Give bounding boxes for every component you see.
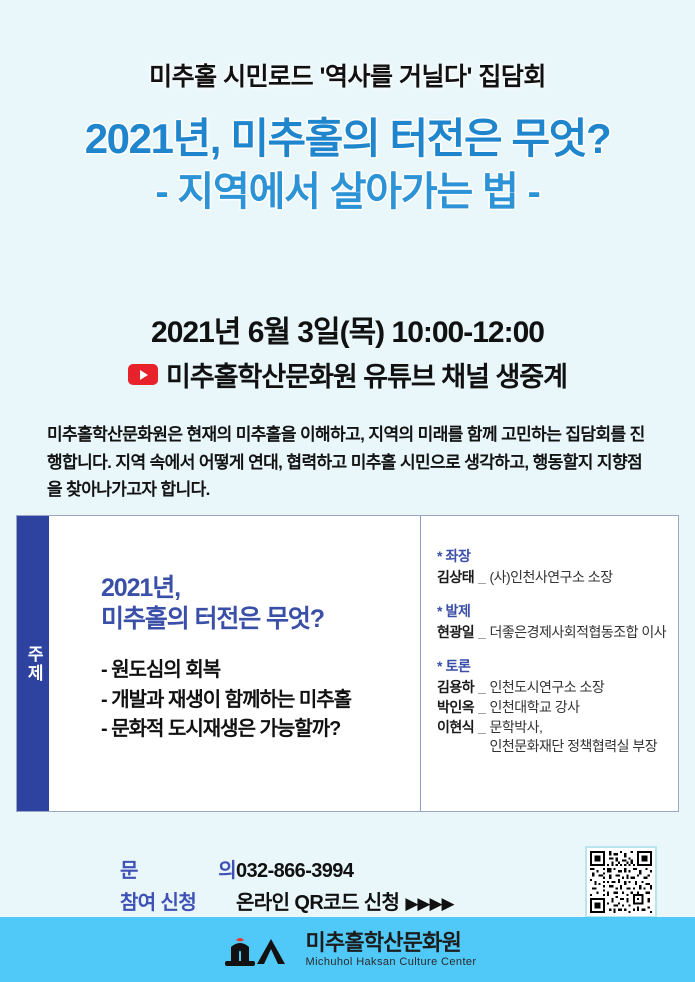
contact-block: 문 의 032-866-3994 참여 신청 온라인 QR코드 신청 ▶▶▶▶ bbox=[120, 855, 454, 919]
qr-code[interactable] bbox=[585, 846, 657, 918]
list-item: - 개발과 재생이 함께하는 미추홀 bbox=[101, 686, 420, 716]
speaker-affiliation: (사)인천사연구소 소장 bbox=[489, 568, 612, 588]
list-item: - 문화적 도시재생은 가능할까? bbox=[101, 715, 420, 745]
poster-root: 미추홀 시민로드 '역사를 거닐다' 집담회 2021년, 미추홀의 터전은 무… bbox=[0, 0, 695, 982]
speaker-role-label: * 토론 bbox=[437, 656, 678, 676]
page-subtitle: - 지역에서 살아가는 법 - bbox=[0, 169, 695, 216]
inquiry-phone-number: 032-866-3994 bbox=[236, 855, 353, 887]
page-title: 2021년, 미추홀의 터전은 무엇? bbox=[0, 114, 695, 164]
apply-arrows-icon: ▶▶▶▶ bbox=[399, 890, 453, 917]
speaker-affiliation-line2: 인천문화재단 정책협력실 부장 bbox=[489, 737, 657, 757]
speaker-role-label: * 발제 bbox=[437, 601, 678, 621]
footer-logo-en: Michuhol Haksan Culture Center bbox=[306, 957, 477, 968]
apply-value: 온라인 QR코드 신청 bbox=[236, 887, 399, 919]
apply-label: 참여 신청 bbox=[120, 887, 236, 919]
subject-tab: 주제 bbox=[17, 516, 49, 811]
topic-heading: 2021년, 미추홀의 터전은 무엇? bbox=[101, 573, 420, 634]
apply-row: 참여 신청 온라인 QR코드 신청 ▶▶▶▶ bbox=[120, 887, 454, 919]
broadcast-channel-label: 미추홀학산문화원 유튜브 채널 생중계 bbox=[166, 355, 567, 394]
speaker-row: 김용하 _ 인천도시연구소 소장 bbox=[437, 678, 678, 698]
list-item: - 원도심의 회복 bbox=[101, 656, 420, 686]
subject-tab-label: 주제 bbox=[23, 645, 43, 683]
speaker-row: 현광일 _ 더좋은경제사회적협동조합 이사 bbox=[437, 623, 678, 643]
speaker-group: * 발제 현광일 _ 더좋은경제사회적협동조합 이사 bbox=[437, 601, 678, 643]
footer-logo-text: 미추홀학산문화원 Michuhol Haksan Culture Center bbox=[306, 932, 477, 968]
speaker-name: 이현식 bbox=[437, 718, 474, 738]
inquiry-label-char-a: 문 bbox=[120, 855, 138, 887]
speaker-name: 김용하 bbox=[437, 678, 474, 698]
topics-pane: 2021년, 미추홀의 터전은 무엇? - 원도심의 회복 - 개발과 재생이 … bbox=[49, 516, 421, 811]
description-paragraph: 미추홀학산문화원은 현재의 미추홀을 이해하고, 지역의 미래를 함께 고민하는… bbox=[47, 421, 651, 504]
speaker-row: 박인옥 _ 인천대학교 강사 bbox=[437, 698, 678, 718]
haksan-gate-logo-icon bbox=[219, 930, 297, 970]
speaker-separator: _ bbox=[474, 678, 489, 698]
speaker-role-label: * 좌장 bbox=[437, 546, 678, 566]
speaker-separator: _ bbox=[474, 568, 489, 588]
speaker-row: 김상태 _ (사)인천사연구소 소장 bbox=[437, 568, 678, 588]
speaker-separator: _ bbox=[474, 698, 489, 718]
speaker-affiliation: 더좋은경제사회적협동조합 이사 bbox=[489, 623, 666, 643]
speaker-name: 현광일 bbox=[437, 623, 474, 643]
footer-band: 미추홀학산문화원 Michuhol Haksan Culture Center bbox=[0, 917, 695, 982]
speaker-group: * 토론 김용하 _ 인천도시연구소 소장 박인옥 _ 인천대학교 강사 이현식… bbox=[437, 656, 678, 758]
event-datetime: 2021년 6월 3일(목) 10:00-12:00 bbox=[0, 307, 695, 351]
speaker-separator: _ bbox=[474, 623, 489, 643]
inquiry-label: 문 의 bbox=[120, 855, 236, 887]
footer-logo-ko: 미추홀학산문화원 bbox=[306, 932, 477, 954]
header: 미추홀 시민로드 '역사를 거닐다' 집담회 2021년, 미추홀의 터전은 무… bbox=[0, 64, 695, 216]
speaker-name: 김상태 bbox=[437, 568, 474, 588]
speaker-name: 박인옥 bbox=[437, 698, 474, 718]
topic-heading-line2: 미추홀의 터전은 무엇? bbox=[101, 604, 420, 635]
broadcast-channel: 미추홀학산문화원 유튜브 채널 생중계 bbox=[0, 355, 695, 394]
speaker-affiliation: 문학박사, 인천문화재단 정책협력실 부장 bbox=[489, 718, 657, 758]
speaker-affiliation-line1: 문학박사, bbox=[489, 719, 542, 735]
inquiry-label-char-b: 의 bbox=[218, 855, 236, 887]
inquiry-row: 문 의 032-866-3994 bbox=[120, 855, 454, 887]
speaker-affiliation: 인천도시연구소 소장 bbox=[489, 678, 604, 698]
speakers-pane: * 좌장 김상태 _ (사)인천사연구소 소장 * 발제 현광일 _ 더좋은경제… bbox=[421, 516, 678, 811]
youtube-icon bbox=[128, 364, 158, 385]
speaker-row: 이현식 _ 문학박사, 인천문화재단 정책협력실 부장 bbox=[437, 718, 678, 758]
topic-heading-line1: 2021년, bbox=[101, 573, 420, 604]
speaker-separator: _ bbox=[474, 718, 489, 738]
speaker-affiliation: 인천대학교 강사 bbox=[489, 698, 579, 718]
program-panel: 주제 2021년, 미추홀의 터전은 무엇? - 원도심의 회복 - 개발과 재… bbox=[16, 515, 679, 812]
topic-list: - 원도심의 회복 - 개발과 재생이 함께하는 미추홀 - 문화적 도시재생은… bbox=[101, 656, 420, 745]
kicker-text: 미추홀 시민로드 '역사를 거닐다' 집담회 bbox=[0, 64, 695, 92]
speaker-group: * 좌장 김상태 _ (사)인천사연구소 소장 bbox=[437, 546, 678, 588]
